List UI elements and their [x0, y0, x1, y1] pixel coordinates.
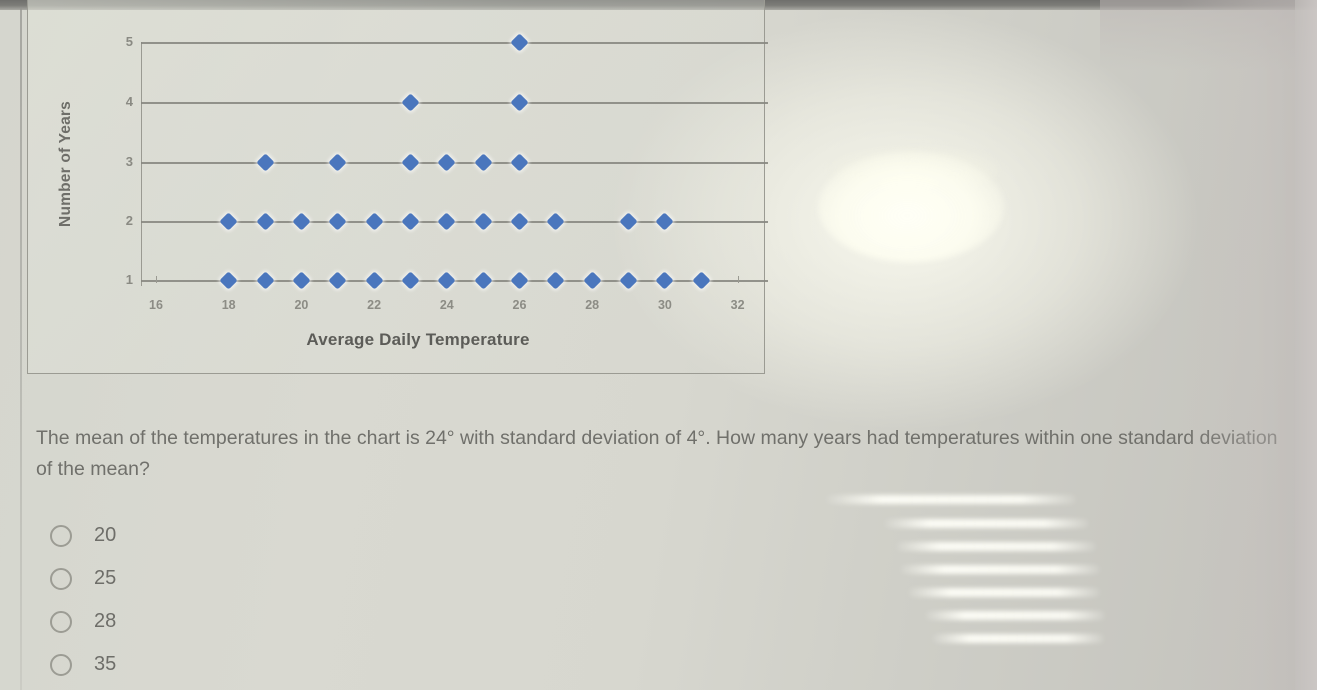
top-right-shading [1100, 0, 1317, 70]
answer-option-25[interactable]: 25 [50, 557, 450, 600]
data-point [547, 212, 565, 230]
data-point [438, 271, 456, 289]
answer-option-28[interactable]: 28 [50, 600, 450, 643]
data-point [692, 271, 710, 289]
x-tick-label-20: 20 [284, 298, 318, 312]
y-axis-line [141, 42, 142, 286]
data-point [474, 153, 492, 171]
gridline-y-5 [141, 42, 768, 44]
glare-stripe [826, 495, 1076, 504]
data-point [401, 153, 419, 171]
data-point [219, 271, 237, 289]
x-tick-label-18: 18 [212, 298, 246, 312]
data-point [365, 271, 383, 289]
radio-button-icon[interactable] [50, 525, 72, 547]
data-point [365, 212, 383, 230]
y-tick-label-5: 5 [111, 34, 133, 49]
y-tick-label-1: 1 [111, 272, 133, 287]
data-point [619, 212, 637, 230]
data-point [438, 212, 456, 230]
data-point [474, 271, 492, 289]
data-point [656, 212, 674, 230]
answer-option-35[interactable]: 35 [50, 643, 450, 686]
answer-option-label: 35 [94, 653, 116, 676]
data-point [401, 212, 419, 230]
glare-stripe [925, 611, 1105, 620]
x-tick-label-32: 32 [721, 298, 755, 312]
y-tick-label-3: 3 [111, 154, 133, 169]
data-point [510, 93, 528, 111]
screen-right-edge [1295, 0, 1317, 690]
x-tick-label-24: 24 [430, 298, 464, 312]
glare-stripe [908, 588, 1100, 597]
data-point [547, 271, 565, 289]
data-point [329, 153, 347, 171]
answer-options: 20252835 [50, 514, 450, 686]
data-point [438, 153, 456, 171]
data-point [219, 212, 237, 230]
x-tick-label-26: 26 [503, 298, 537, 312]
radio-button-icon[interactable] [50, 568, 72, 590]
y-tick-label-4: 4 [111, 94, 133, 109]
x-tick-label-22: 22 [357, 298, 391, 312]
data-point [256, 271, 274, 289]
glare-stripe [884, 519, 1089, 528]
ceiling-light-glare [818, 152, 1004, 262]
x-tick-mark-32 [738, 276, 739, 283]
data-point [474, 212, 492, 230]
x-axis-label: Average Daily Temperature [28, 330, 766, 350]
dot-plot-chart: Number of Years Average Daily Temperatur… [27, 0, 765, 374]
answer-option-label: 25 [94, 567, 116, 590]
screen-left-edge [20, 8, 22, 690]
data-point [656, 271, 674, 289]
data-point [510, 271, 528, 289]
answer-option-label: 20 [94, 524, 116, 547]
data-point [329, 212, 347, 230]
data-point [510, 153, 528, 171]
x-tick-mark-16 [156, 276, 157, 283]
glare-stripe [896, 542, 1096, 551]
answer-option-20[interactable]: 20 [50, 514, 450, 557]
data-point [583, 271, 601, 289]
x-tick-label-30: 30 [648, 298, 682, 312]
radio-button-icon[interactable] [50, 611, 72, 633]
data-point [256, 212, 274, 230]
data-point [292, 212, 310, 230]
data-point [401, 93, 419, 111]
plot-area: Number of Years Average Daily Temperatur… [28, 0, 766, 374]
data-point [329, 271, 347, 289]
data-point [401, 271, 419, 289]
glare-stripe [932, 634, 1104, 643]
data-point [510, 212, 528, 230]
y-axis-label: Number of Years [57, 74, 75, 254]
y-tick-label-2: 2 [111, 213, 133, 228]
photographed-screen: Number of Years Average Daily Temperatur… [0, 0, 1317, 690]
data-point [292, 271, 310, 289]
question-text: The mean of the temperatures in the char… [36, 423, 1298, 485]
gridline-y-4 [141, 102, 768, 104]
radio-button-icon[interactable] [50, 654, 72, 676]
answer-option-label: 28 [94, 610, 116, 633]
x-tick-label-16: 16 [139, 298, 173, 312]
data-point [619, 271, 637, 289]
data-point [256, 153, 274, 171]
x-tick-label-28: 28 [575, 298, 609, 312]
glare-stripe [900, 565, 1100, 574]
data-point [510, 33, 528, 51]
